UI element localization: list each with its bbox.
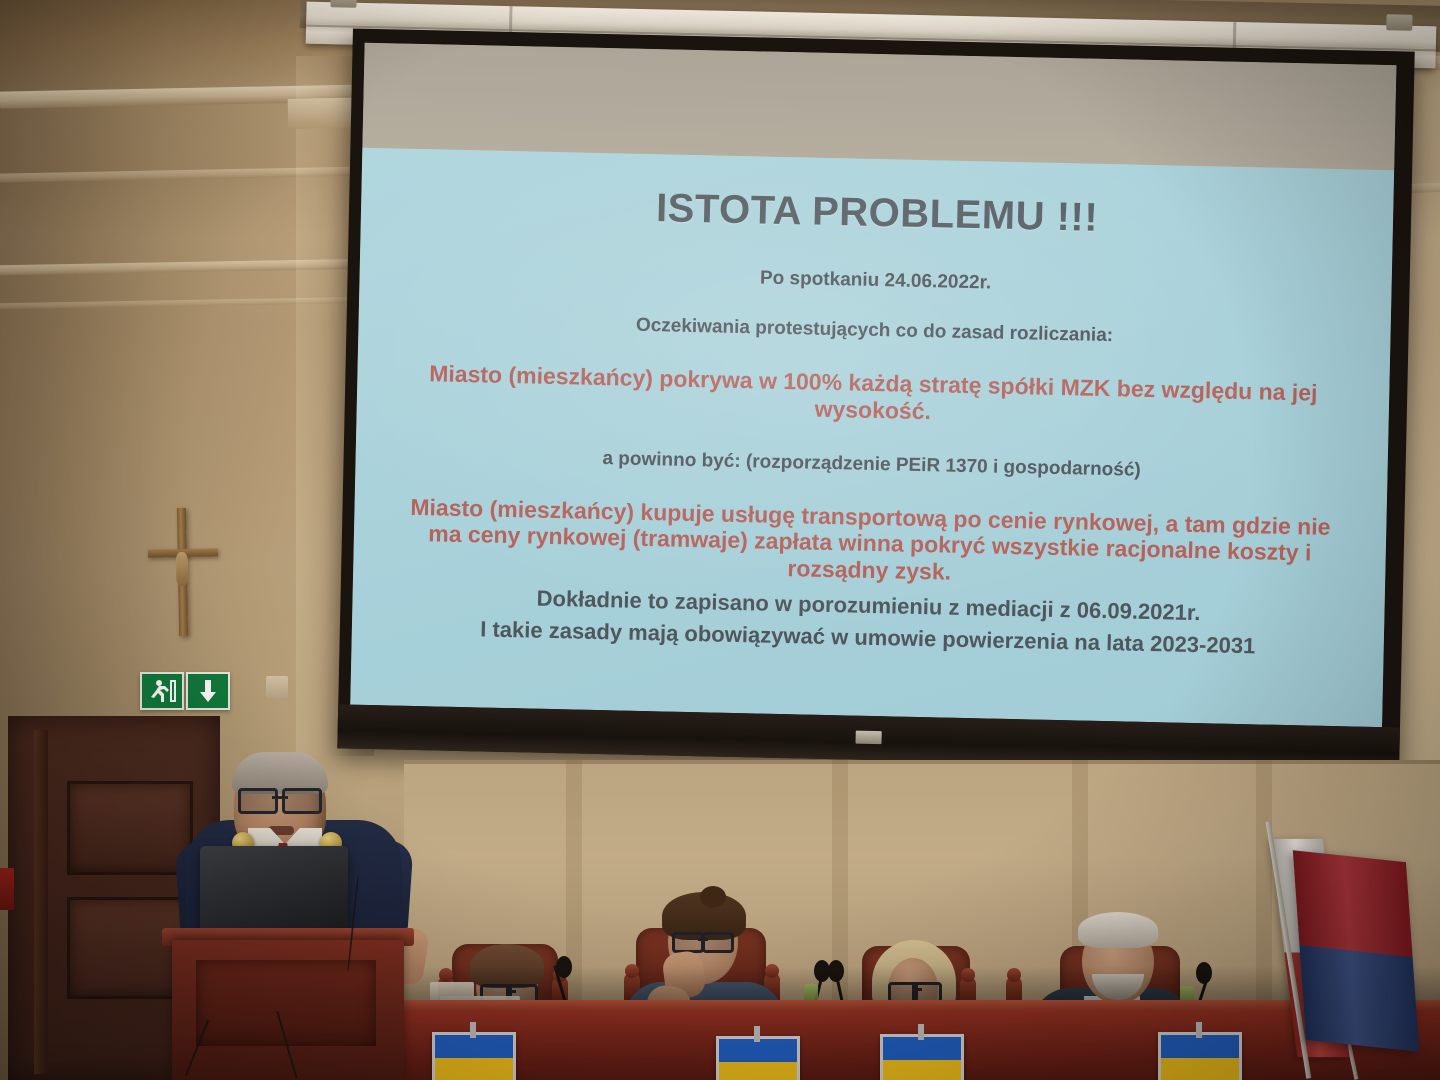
slide-claim-text: Miasto (mieszkańcy) pokrywa w 100% każdą… [401, 360, 1346, 435]
door-stile [34, 730, 48, 1074]
ukraine-desk-flag [716, 1036, 800, 1080]
slide-counter-intro: a powinno być: (rozporządzenie PEiR 1370… [399, 444, 1343, 487]
projection-screen: ISTOTA PROBLEMU !!! Po spotkaniu 24.06.2… [337, 29, 1414, 772]
flag-stand [754, 1026, 760, 1042]
lectern-recess [196, 960, 376, 1046]
flag-stand [1196, 1022, 1202, 1038]
flag-stand [470, 1022, 476, 1038]
hair-bun [700, 886, 726, 908]
wall-socket-plate [266, 676, 288, 698]
ukraine-desk-flag [880, 1034, 964, 1080]
fire-equipment-cabinet [0, 868, 14, 910]
door-panel [70, 784, 190, 872]
panel-member-hair [1078, 912, 1158, 948]
down-arrow-exit-sign [186, 672, 230, 710]
slide-subtitle: Po spotkaniu 24.06.2022r. [403, 260, 1347, 303]
flag-stand [918, 1024, 924, 1040]
eyeglasses-icon [238, 788, 322, 808]
ukraine-desk-flag [432, 1032, 516, 1080]
screen-canvas: ISTOTA PROBLEMU !!! Po spotkaniu 24.06.2… [350, 43, 1396, 727]
slide-counter-text: Miasto (mieszkańcy) kupuje usługę transp… [397, 494, 1342, 593]
ukraine-desk-flag [1158, 1032, 1242, 1080]
eyeglasses-icon [672, 932, 734, 947]
crucifix-figure [176, 552, 189, 586]
photo-scene: ISTOTA PROBLEMU !!! Po spotkaniu 24.06.2… [0, 0, 1440, 1080]
slide-intro-line: Oczekiwania protestujących co do zasad r… [402, 310, 1346, 353]
city-flag [1293, 850, 1419, 1051]
presentation-slide: ISTOTA PROBLEMU !!! Po spotkaniu 24.06.2… [350, 148, 1394, 727]
running-man-exit-sign [140, 672, 184, 710]
screen-pull-tab [855, 731, 881, 745]
slide-title: ISTOTA PROBLEMU !!! [405, 181, 1350, 247]
